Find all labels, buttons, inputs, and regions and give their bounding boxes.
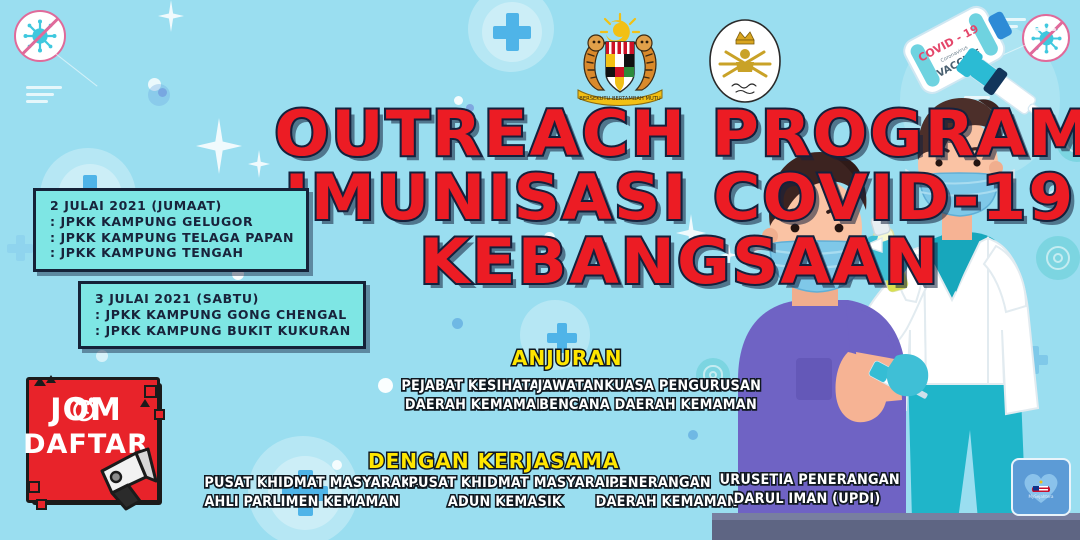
venue-item: : JPKK KAMPUNG GELUGOR: [50, 214, 294, 230]
collaboration-line-2: DAERAH KEMAMAN: [596, 493, 725, 512]
collaboration-line-1: PUSAT KHIDMAT MASYARAKAT: [204, 474, 397, 493]
date-heading: 2 JULAI 2021 (JUMAAT): [50, 198, 294, 214]
collaboration-heading: DENGAN KERJASAMA: [368, 449, 619, 473]
venue-item: : JPKK KAMPUNG TENGAH: [50, 245, 294, 261]
collaboration-line-2: AHLI PARLIMEN KEMAMAN: [204, 493, 397, 512]
poster-canvas: BERSEKUTU BERTAMBAH MUTU: [0, 0, 1080, 540]
venue-item: : JPKK KAMPUNG TELAGA PAPAN: [50, 230, 294, 246]
title-line-1: OUTREACH PROGRAM: [274, 104, 1080, 164]
collaboration-column-3: PENERANGAN DAERAH KEMAMAN: [590, 474, 730, 512]
heart-icon: MySejahtera: [1020, 467, 1062, 507]
svg-text:MySejahtera: MySejahtera: [1028, 494, 1054, 499]
collaboration-line-1: URUSETIA PENERANGAN: [720, 471, 895, 490]
poster-title: OUTREACH PROGRAM IMUNISASI COVID-19 KEBA…: [290, 104, 1070, 292]
confetti-triangle: [46, 375, 56, 383]
confetti-triangle: [34, 377, 46, 386]
confetti-chip: [28, 481, 40, 493]
confetti-chip: [154, 409, 165, 420]
mysejahtera-badge[interactable]: MySejahtera: [1011, 458, 1071, 516]
title-line-3: KEBANGSAAN: [274, 232, 1080, 292]
title-line-2: IMUNISASI COVID-19: [274, 168, 1080, 228]
confetti-chip: [144, 385, 157, 398]
alarm-clock-icon: [70, 395, 98, 423]
confetti-triangle: [140, 399, 150, 407]
sparkle-icon: [158, 0, 184, 32]
medical-cross-icon: [482, 2, 542, 62]
sparkle-icon: [196, 118, 242, 174]
jom-daftar-logo[interactable]: JOM DAFTAR: [22, 373, 167, 513]
organiser-column-2: JAWATANKUASA PENGURUSAN BENCANA DAERAH K…: [528, 377, 768, 415]
sparkle-icon: [248, 150, 270, 178]
megaphone-icon: [96, 447, 170, 517]
organiser-heading: ANJURAN: [512, 346, 623, 370]
collaboration-line-1: PUSAT KHIDMAT MASYARAKAT: [408, 474, 601, 493]
collaboration-line-1: PENERANGAN: [596, 474, 725, 493]
no-virus-icon: [14, 10, 66, 62]
collaboration-column-1: PUSAT KHIDMAT MASYARAKAT AHLI PARLIMEN K…: [196, 474, 406, 512]
collaboration-line-2: ADUN KEMASIK: [408, 493, 601, 512]
collaboration-column-4: URUSETIA PENERANGAN DARUL IMAN (UPDI): [712, 471, 902, 509]
date-box-friday: 2 JULAI 2021 (JUMAAT) : JPKK KAMPUNG GEL…: [33, 188, 309, 272]
venue-item: : JPKK KAMPUNG GONG CHENGAL: [95, 307, 351, 323]
organiser-line-2: BENCANA DAERAH KEMAMAN: [538, 396, 759, 415]
confetti-chip: [36, 499, 47, 510]
collaboration-line-2: DARUL IMAN (UPDI): [720, 490, 895, 509]
jata-negara-malaysia-crest: BERSEKUTU BERTAMBAH MUTU: [560, 12, 680, 108]
date-box-saturday: 3 JULAI 2021 (SABTU) : JPKK KAMPUNG GONG…: [78, 281, 366, 349]
date-heading: 3 JULAI 2021 (SABTU): [95, 291, 351, 307]
venue-item: : JPKK KAMPUNG BUKIT KUKURAN: [95, 323, 351, 339]
collaboration-column-2: PUSAT KHIDMAT MASYARAKAT ADUN KEMASIK: [400, 474, 610, 512]
organiser-line-1: JAWATANKUASA PENGURUSAN: [538, 377, 759, 396]
